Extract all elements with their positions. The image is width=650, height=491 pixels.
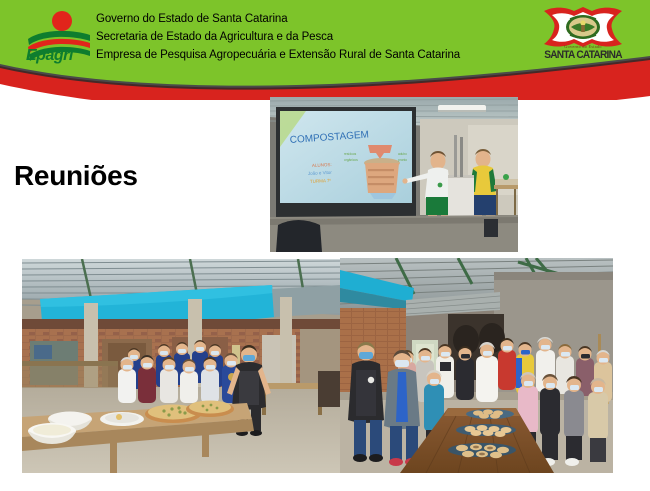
svg-text:ALUNOS:: ALUNOS: [312,162,332,168]
svg-text:pronto: pronto [398,158,407,162]
slide-canvas: Epagri Governo do Estado de Santa Catari… [0,0,650,491]
group-photo-left-image [22,259,340,473]
group-photo-left [22,259,340,473]
presentation-photo-image: COMPOSTAGEM ALUNOS: João e Vitor TURMA 7… [270,97,518,252]
page-title: Reuniões [14,160,138,192]
group-photo-right-image [340,258,613,473]
svg-text:orgânicos: orgânicos [344,158,358,162]
header-org-line-2: Secretaria de Estado da Agricultura e da… [96,31,333,43]
header-org-line-1: Governo do Estado de Santa Catarina [96,13,288,25]
header-org-line-3: Empresa de Pesquisa Agropecuária e Exten… [96,49,460,61]
santa-catarina-name-label: SANTA CATARINA [542,49,625,61]
svg-text:adubo: adubo [398,152,407,156]
presentation-photo: COMPOSTAGEM ALUNOS: João e Vitor TURMA 7… [270,97,518,252]
group-photo-right [340,258,613,473]
epagri-wordmark: Epagri [26,47,96,65]
svg-text:resíduos: resíduos [344,152,357,156]
santa-catarina-flag-icon [540,5,626,49]
slide-header: Epagri Governo do Estado de Santa Catari… [0,0,650,100]
